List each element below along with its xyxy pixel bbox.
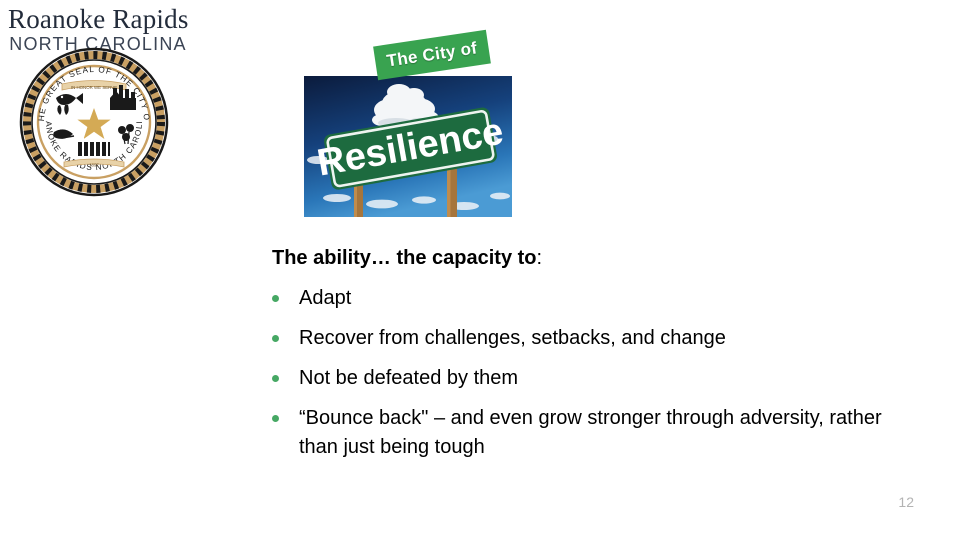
list-item-text: Adapt bbox=[299, 287, 351, 309]
city-of-banner-label: The City of bbox=[385, 38, 478, 71]
lead-heading-colon: : bbox=[537, 247, 543, 269]
slide-number: 12 bbox=[898, 494, 914, 510]
list-item-text: Not be defeated by them bbox=[299, 367, 518, 389]
svg-text:1897: 1897 bbox=[89, 163, 99, 168]
bullet-list: Adapt Recover from challenges, setbacks,… bbox=[272, 284, 892, 462]
lead-heading: The ability… the capacity to: bbox=[272, 244, 892, 272]
list-item: Recover from challenges, setbacks, and c… bbox=[272, 324, 892, 353]
list-item-text: “Bounce back" – and even grow stronger t… bbox=[299, 407, 882, 458]
bullet-dot-icon bbox=[272, 415, 279, 422]
city-of-banner: The City of bbox=[373, 30, 491, 80]
city-logo-name: Roanoke Rapids bbox=[8, 4, 188, 34]
svg-text:IN HONOR WE SERVE: IN HONOR WE SERVE bbox=[71, 85, 117, 90]
lead-heading-bold: The ability… the capacity to bbox=[272, 247, 537, 269]
bullet-dot-icon bbox=[272, 375, 279, 382]
resilience-sign-photo: Resilience bbox=[304, 76, 512, 217]
list-item-text: Recover from challenges, setbacks, and c… bbox=[299, 327, 726, 349]
city-logo: Roanoke Rapids NORTH CAROLINA THE GREAT … bbox=[8, 4, 188, 200]
slide-body: The ability… the capacity to: Adapt Reco… bbox=[272, 244, 892, 462]
city-seal-icon: THE GREAT SEAL OF THE CITY OF ROANOKE RA… bbox=[18, 46, 170, 198]
bullet-dot-icon bbox=[272, 295, 279, 302]
list-item: Not be defeated by them bbox=[272, 364, 892, 393]
slide-canvas: Roanoke Rapids NORTH CAROLINA THE GREAT … bbox=[0, 0, 960, 540]
list-item: “Bounce back" – and even grow stronger t… bbox=[272, 404, 892, 462]
list-item: Adapt bbox=[272, 284, 892, 313]
bullet-dot-icon bbox=[272, 335, 279, 342]
